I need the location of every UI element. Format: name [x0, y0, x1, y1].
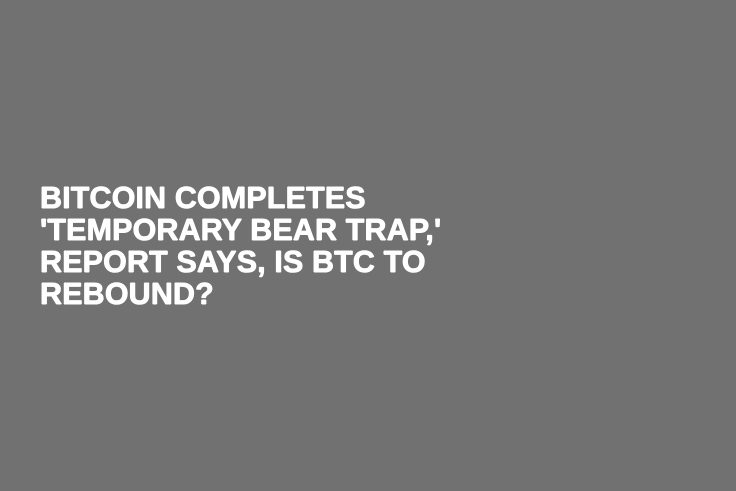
- article-preview-card: BITCOIN COMPLETES 'TEMPORARY BEAR TRAP,'…: [0, 0, 736, 491]
- headline-line-2: 'TEMPORARY BEAR TRAP,': [40, 214, 552, 246]
- headline-line-1: BITCOIN COMPLETES: [40, 182, 552, 214]
- headline-line-3: REPORT SAYS, IS BTC TO: [40, 246, 552, 278]
- headline-line-4: REBOUND?: [40, 278, 552, 310]
- article-headline: BITCOIN COMPLETES 'TEMPORARY BEAR TRAP,'…: [40, 182, 560, 310]
